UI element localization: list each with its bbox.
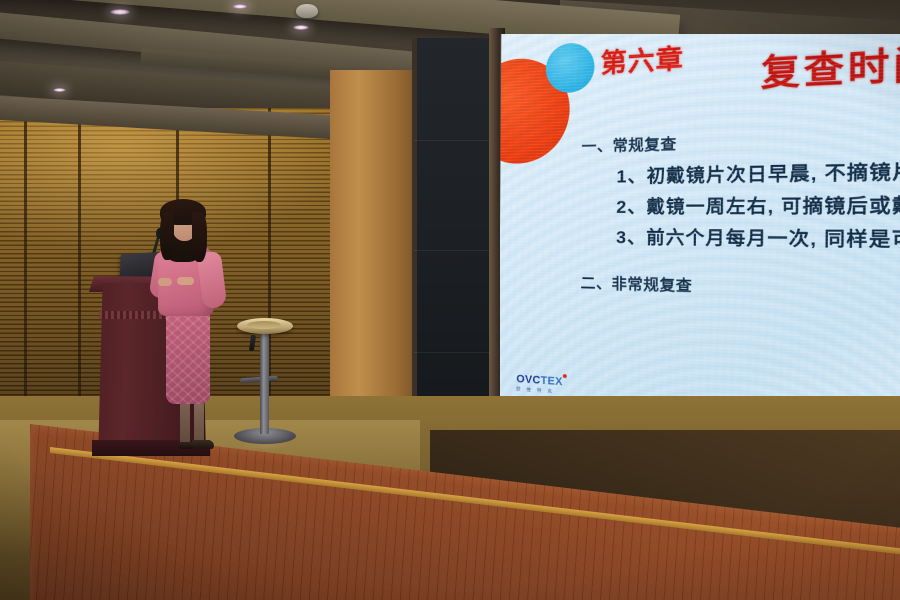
presenter-hair-left xyxy=(160,212,174,260)
presenter-hand-left xyxy=(158,278,172,286)
downlight-2 xyxy=(293,25,309,30)
presenter-hand-right xyxy=(177,277,194,285)
presenter-lace-skirt xyxy=(166,310,210,404)
scanline-overlay xyxy=(500,34,900,454)
downlight-1 xyxy=(110,9,130,15)
presenter-hair-right xyxy=(192,212,207,262)
presentation-hall-photo: 第六章 复查时间 一、常规复查 1、初戴镜片次日早晨, 不摘镜片 2、戴镜一周左… xyxy=(0,0,900,600)
projected-slide: 第六章 复查时间 一、常规复查 1、初戴镜片次日早晨, 不摘镜片 2、戴镜一周左… xyxy=(500,34,900,454)
presenter-shoe-right xyxy=(192,440,214,449)
presenter-leg-left xyxy=(180,400,190,446)
downlight-4 xyxy=(53,88,66,92)
stool-seat-inner xyxy=(247,321,281,329)
stool-post xyxy=(260,330,269,434)
projection-screen: 第六章 复查时间 一、常规复查 1、初戴镜片次日早晨, 不摘镜片 2、戴镜一周左… xyxy=(500,34,900,454)
downlight-3 xyxy=(232,4,248,9)
smoke-detector-icon xyxy=(296,4,318,18)
